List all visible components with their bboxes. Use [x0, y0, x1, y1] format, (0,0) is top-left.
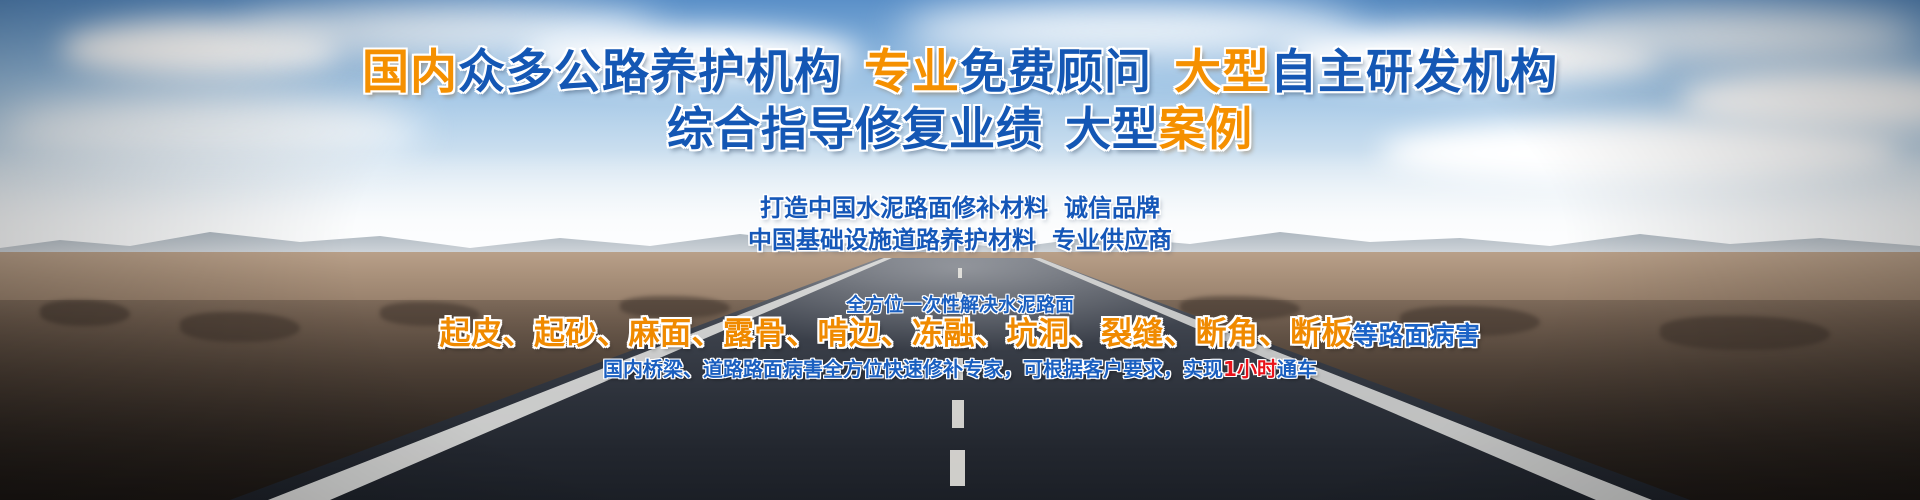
subtitle2-main: 中国基础设施道路养护材料: [748, 226, 1036, 254]
scrub-bush: [40, 300, 130, 326]
road-dash: [950, 450, 965, 486]
headline1-seg2: 众多公路养护机构: [458, 45, 842, 100]
cloud-shape: [1560, 10, 1920, 62]
defects-list: 起皮、起砂、麻面、露骨、啃边、冻融、坑洞、裂缝、断角、断板: [439, 316, 1353, 352]
road-dash: [958, 268, 962, 278]
bottom-footer-line: 国内桥梁、道路路面病害全方位快速修补专家，可根据客户要求，实现1小时通车: [603, 357, 1317, 381]
headline1-seg6: 自主研发机构: [1270, 45, 1558, 100]
scrub-bush: [1660, 316, 1830, 350]
subtitle1-main: 打造中国水泥路面修补材料: [760, 194, 1048, 222]
scrub-bush: [620, 296, 730, 318]
headline1-seg3: 专业: [864, 45, 960, 100]
road-dash: [952, 400, 964, 428]
footer-text-b: 通车: [1277, 357, 1317, 381]
footer-highlight: 1小时: [1223, 357, 1277, 381]
scrub-bush: [180, 312, 300, 342]
headline1-seg1: 国内: [362, 45, 458, 100]
headline2-seg1: 综合指导修复业绩: [667, 102, 1043, 156]
headline2-seg3: 案例: [1159, 102, 1253, 156]
subtitle2-tag: 专业供应商: [1052, 226, 1172, 254]
footer-text-a: 国内桥梁、道路路面病害全方位快速修补专家，可根据客户要求，实现: [603, 357, 1223, 381]
headline1-seg4: 免费顾问: [960, 45, 1152, 100]
defects-suffix: 等路面病害: [1353, 321, 1481, 350]
promo-banner: 国内众多公路养护机构专业免费顾问大型自主研发机构 综合指导修复业绩大型案例 打造…: [0, 0, 1920, 500]
headline1-seg5: 大型: [1174, 45, 1270, 100]
subtitle-line-1: 打造中国水泥路面修补材料诚信品牌: [760, 193, 1160, 223]
headline2-seg2: 大型: [1065, 102, 1159, 156]
subtitle1-tag: 诚信品牌: [1064, 194, 1160, 222]
bottom-defects-line: 起皮、起砂、麻面、露骨、啃边、冻融、坑洞、裂缝、断角、断板等路面病害: [439, 316, 1480, 354]
headline-line-1: 国内众多公路养护机构专业免费顾问大型自主研发机构: [362, 48, 1558, 98]
bottom-lead-text: 全方位一次性解决水泥路面: [846, 294, 1074, 316]
headline-line-2: 综合指导修复业绩大型案例: [667, 104, 1253, 154]
subtitle-line-2: 中国基础设施道路养护材料专业供应商: [748, 225, 1172, 255]
